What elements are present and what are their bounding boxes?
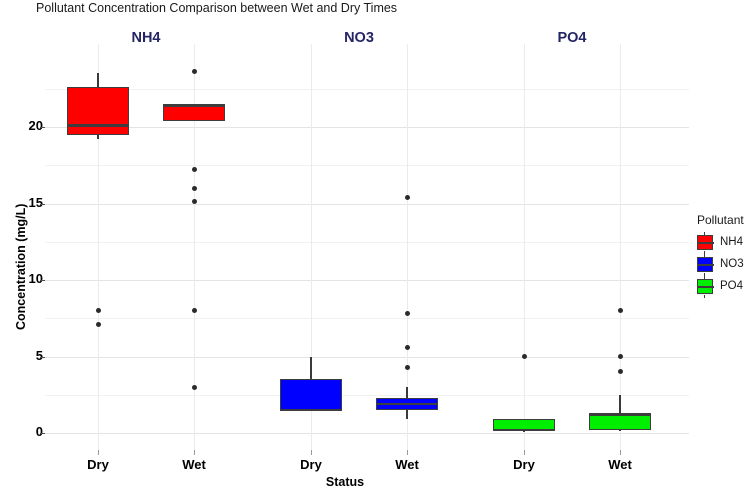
outlier-point bbox=[405, 345, 410, 350]
y-tick-label: 0 bbox=[9, 424, 43, 439]
gridline-minor bbox=[45, 165, 689, 166]
legend-whisker-bottom bbox=[704, 295, 705, 298]
facet-label-nh4: NH4 bbox=[86, 30, 206, 46]
legend-swatch-icon bbox=[697, 235, 713, 250]
outlier-point bbox=[192, 385, 197, 390]
outlier-point bbox=[192, 186, 197, 191]
median-line bbox=[589, 413, 651, 415]
vertical-gridline bbox=[620, 44, 621, 450]
legend-title: Pollutant bbox=[697, 213, 744, 227]
outlier-point bbox=[96, 322, 101, 327]
whisker-lower bbox=[406, 410, 408, 419]
whisker-upper bbox=[97, 73, 99, 87]
outlier-point bbox=[96, 308, 101, 313]
median-line bbox=[163, 104, 225, 106]
x-tick-mark bbox=[98, 450, 99, 455]
x-tick-mark bbox=[407, 450, 408, 455]
x-axis-title: Status bbox=[0, 475, 690, 489]
gridline-minor bbox=[45, 395, 689, 396]
legend-swatch-icon bbox=[697, 257, 713, 272]
x-tick-mark bbox=[524, 450, 525, 455]
legend-median-line bbox=[698, 242, 714, 244]
outlier-point bbox=[618, 369, 623, 374]
x-tick-label: Wet bbox=[154, 457, 234, 472]
boxplot-box-no3-dry bbox=[280, 379, 342, 410]
y-tick-mark bbox=[40, 433, 45, 434]
outlier-point bbox=[618, 308, 623, 313]
outlier-point bbox=[405, 365, 410, 370]
x-tick-label: Wet bbox=[580, 457, 660, 472]
legend-median-line bbox=[698, 264, 714, 266]
gridline-minor bbox=[45, 318, 689, 319]
page-title: Pollutant Concentration Comparison betwe… bbox=[36, 1, 397, 15]
gridline-minor bbox=[45, 89, 689, 90]
median-line bbox=[67, 124, 129, 126]
legend-label: PO4 bbox=[720, 280, 743, 292]
facet-label-no3: NO3 bbox=[299, 30, 419, 46]
y-tick-label: 15 bbox=[9, 195, 43, 210]
x-tick-mark bbox=[194, 450, 195, 455]
gridline-major bbox=[45, 127, 689, 128]
boxplot-box-nh4-dry bbox=[67, 87, 129, 134]
whisker-upper bbox=[310, 357, 312, 380]
outlier-point bbox=[192, 308, 197, 313]
whisker-upper bbox=[619, 395, 621, 413]
x-tick-label: Dry bbox=[271, 457, 351, 472]
outlier-point bbox=[192, 69, 197, 74]
legend-median-line bbox=[698, 286, 714, 288]
whisker-upper bbox=[406, 387, 408, 398]
outlier-point bbox=[618, 354, 623, 359]
gridline-major bbox=[45, 357, 689, 358]
outlier-point bbox=[522, 354, 527, 359]
whisker-lower bbox=[97, 135, 99, 140]
vertical-gridline bbox=[524, 44, 525, 450]
gridline-major bbox=[45, 280, 689, 281]
legend-label: NO3 bbox=[720, 258, 744, 270]
x-tick-mark bbox=[311, 450, 312, 455]
facet-label-po4: PO4 bbox=[512, 30, 632, 46]
median-line bbox=[493, 429, 555, 431]
gridline-major bbox=[45, 204, 689, 205]
outlier-point bbox=[192, 167, 197, 172]
panel-background bbox=[45, 44, 689, 450]
legend-swatch-icon bbox=[697, 279, 713, 294]
y-tick-label: 5 bbox=[9, 348, 43, 363]
gridline-major bbox=[45, 433, 689, 434]
boxplot-chart: Pollutant Concentration Comparison betwe… bbox=[0, 0, 749, 493]
y-tick-mark bbox=[40, 204, 45, 205]
outlier-point bbox=[405, 311, 410, 316]
y-axis-title: Concentration (mg/L) bbox=[14, 204, 28, 330]
x-tick-label: Wet bbox=[367, 457, 447, 472]
y-tick-mark bbox=[40, 357, 45, 358]
legend-label: NH4 bbox=[720, 236, 743, 248]
gridline-minor bbox=[45, 242, 689, 243]
median-line bbox=[376, 403, 438, 405]
x-tick-mark bbox=[620, 450, 621, 455]
x-tick-label: Dry bbox=[484, 457, 564, 472]
y-tick-mark bbox=[40, 280, 45, 281]
y-tick-label: 20 bbox=[9, 118, 43, 133]
x-tick-label: Dry bbox=[58, 457, 138, 472]
outlier-point bbox=[405, 195, 410, 200]
y-tick-mark bbox=[40, 127, 45, 128]
y-tick-label: 10 bbox=[9, 271, 43, 286]
median-line bbox=[280, 409, 342, 411]
whisker-lower bbox=[619, 430, 621, 432]
